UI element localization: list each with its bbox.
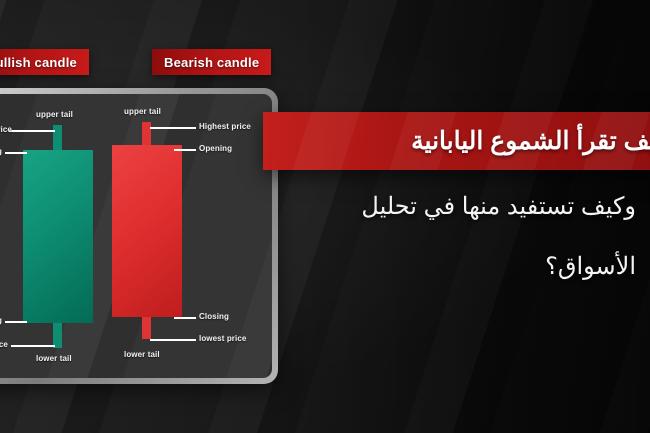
- headline-line-2: وكيف تستفيد منها في تحليل: [361, 192, 636, 221]
- bullish-highest-price-leader: [9, 130, 55, 132]
- bearish-highest-price-label: Highest price: [199, 122, 251, 132]
- bullish-highest-price-label: Highest price: [0, 125, 6, 135]
- bearish-candle-body: [112, 145, 182, 317]
- candlestick-chart: upper tail Highest price Closing Opening…: [0, 94, 272, 378]
- bullish-opening-leader: [5, 321, 27, 323]
- bearish-upper-wick: [142, 122, 151, 145]
- headline-line-3: الأسواق؟: [545, 252, 636, 281]
- bearish-highest-price-leader: [150, 127, 196, 129]
- bearish-closing-label: Closing: [199, 312, 229, 322]
- headline-banner: كيف تقرأ الشموع اليابانية: [263, 112, 650, 170]
- bullish-upper-tail-label: upper tail: [36, 110, 73, 120]
- bullish-lowest-price-label: lowest price: [0, 340, 8, 350]
- bearish-lower-tail-label: lower tail: [124, 350, 160, 360]
- tablet-device-frame: upper tail Highest price Closing Opening…: [0, 88, 278, 384]
- badge-bullish-candle: Bullish candle: [0, 49, 89, 75]
- bullish-lowest-price-leader: [11, 345, 55, 347]
- bullish-lower-tail-label: lower tail: [36, 354, 72, 364]
- headline-banner-text: كيف تقرأ الشموع اليابانية: [411, 126, 650, 156]
- bearish-opening-label: Opening: [199, 144, 232, 154]
- bearish-lowest-price-leader: [150, 339, 196, 341]
- bearish-lower-wick: [142, 317, 151, 339]
- badge-bearish-label: Bearish candle: [164, 55, 259, 70]
- badge-bullish-label: Bullish candle: [0, 55, 77, 70]
- tablet-screen: upper tail Highest price Closing Opening…: [0, 94, 272, 378]
- bearish-closing-leader: [174, 317, 196, 319]
- bearish-upper-tail-label: upper tail: [124, 107, 161, 117]
- bullish-opening-label: Opening: [0, 316, 2, 326]
- infographic-canvas: upper tail Highest price Closing Opening…: [0, 0, 650, 433]
- bullish-closing-label: Closing: [0, 147, 2, 157]
- bullish-candle-body: [23, 150, 93, 323]
- badge-bearish-candle: Bearish candle: [152, 49, 271, 75]
- bearish-lowest-price-label: lowest price: [199, 334, 246, 344]
- bullish-upper-wick: [53, 125, 62, 150]
- bullish-closing-leader: [5, 152, 27, 154]
- bearish-opening-leader: [174, 149, 196, 151]
